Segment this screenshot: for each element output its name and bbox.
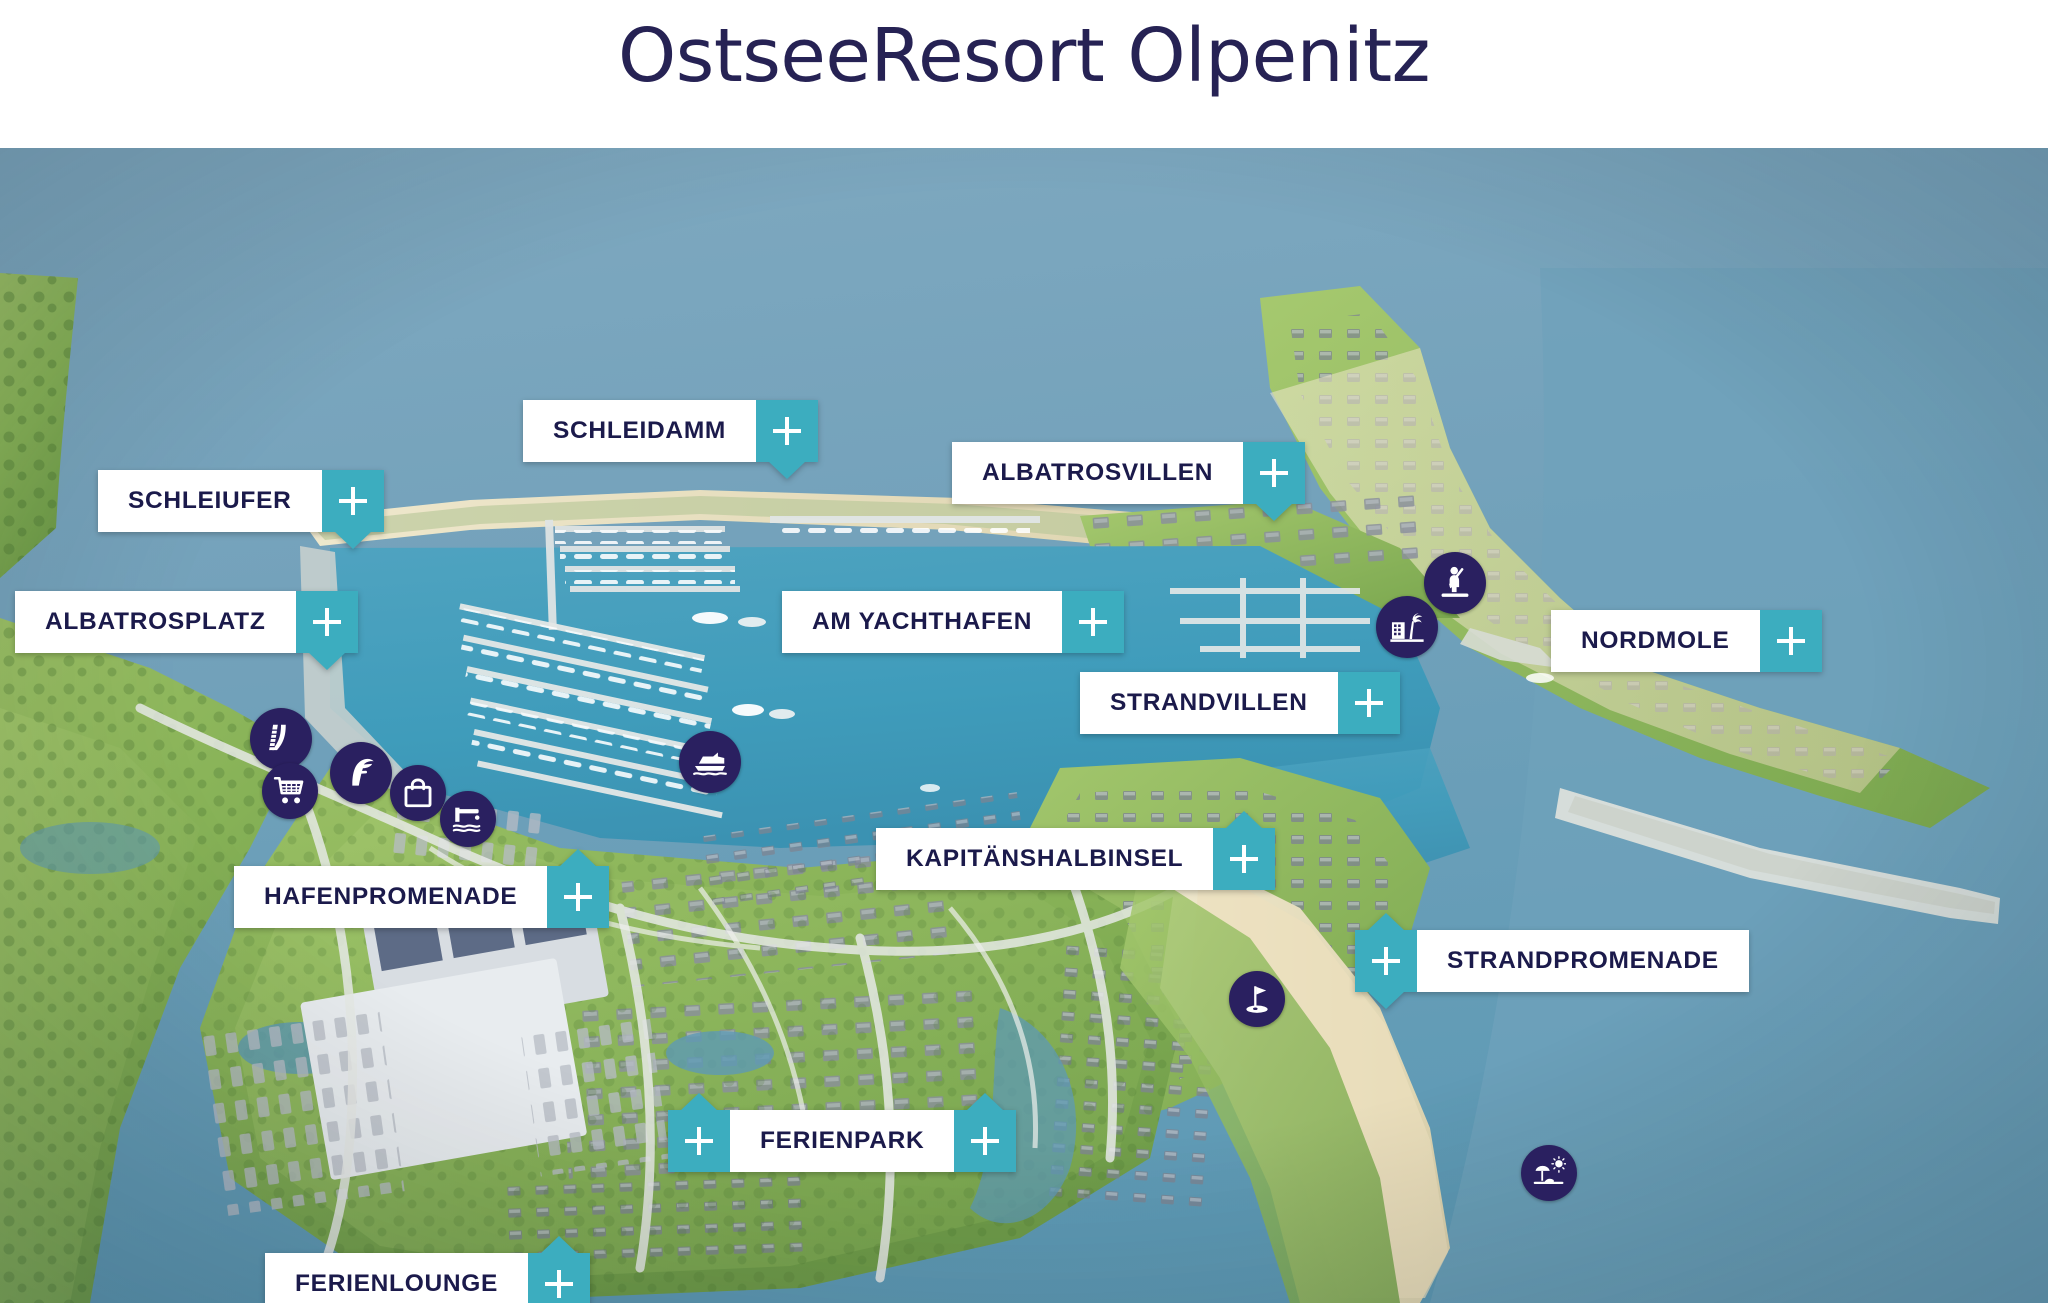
poi-boat-charter[interactable]	[679, 731, 741, 793]
pointer-down-icon	[308, 652, 346, 670]
hotspot-plus-ferienpark-right[interactable]	[954, 1110, 1016, 1172]
hotspot-label-kapitaenshalbinsel: KAPITÄNSHALBINSEL	[876, 828, 1213, 890]
poi-water-slide[interactable]	[250, 708, 312, 770]
hotspot-label-ferienlounge: FERIENLOUNGE	[265, 1253, 528, 1303]
poi-golf[interactable]	[1229, 971, 1285, 1027]
pointer-up-icon	[966, 1093, 1004, 1111]
hotspot-plus-albatrosvillen[interactable]	[1243, 442, 1305, 504]
poi-fitness-brand[interactable]	[330, 742, 392, 804]
hotspot-label-am-yachthafen: AM YACHTHAFEN	[782, 591, 1062, 653]
shopping-bag-icon	[401, 776, 435, 810]
hotspot-plus-schleidamm[interactable]	[756, 400, 818, 462]
hotspot-label-albatrosplatz: ALBATROSPLATZ	[15, 591, 296, 653]
hotspot-am-yachthafen[interactable]: AM YACHTHAFEN	[782, 591, 1124, 653]
pointer-up-icon	[559, 849, 597, 867]
golf-flag-icon	[1240, 982, 1274, 1016]
paddleboard-icon	[1436, 564, 1474, 602]
interactive-resort-map[interactable]: SCHLEIDAMM ALBATROSVILLEN SCHLEIUFER ALB…	[0, 148, 2048, 1303]
pointer-down-icon	[1255, 503, 1293, 521]
pointer-up-icon	[1225, 811, 1263, 829]
beach-umbrella-icon	[1532, 1156, 1566, 1190]
page-title: OstseeResort Olpenitz	[0, 16, 2048, 97]
shopping-cart-icon	[273, 774, 307, 808]
hotspot-albatrosplatz[interactable]: ALBATROSPLATZ	[15, 591, 358, 653]
pointer-down-icon	[334, 531, 372, 549]
hotspot-label-strandvillen: STRANDVILLEN	[1080, 672, 1338, 734]
hotspot-plus-nordmole[interactable]	[1760, 610, 1822, 672]
pointer-down-icon	[1367, 991, 1405, 1009]
hotspot-label-schleidamm: SCHLEIDAMM	[523, 400, 756, 462]
hotspot-plus-strandpromenade[interactable]	[1355, 930, 1417, 992]
hotspot-label-hafenpromenade: HAFENPROMENADE	[234, 866, 547, 928]
diving-board-icon	[451, 802, 485, 836]
hotspot-label-schleiufer: SCHLEIUFER	[98, 470, 322, 532]
hotspot-nordmole[interactable]: NORDMOLE	[1551, 610, 1822, 672]
f-logo-icon	[342, 754, 380, 792]
poi-beach-umbrella[interactable]	[1521, 1145, 1577, 1201]
hotspot-plus-schleiufer[interactable]	[322, 470, 384, 532]
hotspot-label-strandpromenade: STRANDPROMENADE	[1417, 930, 1749, 992]
poi-pool-diving[interactable]	[440, 791, 496, 847]
poi-beach-resort[interactable]	[1376, 596, 1438, 658]
hotspot-strandvillen[interactable]: STRANDVILLEN	[1080, 672, 1400, 734]
pointer-up-icon	[680, 1093, 718, 1111]
pointer-up-icon	[1367, 913, 1405, 931]
hotspot-hafenpromenade[interactable]: HAFENPROMENADE	[234, 866, 609, 928]
hotspot-ferienlounge[interactable]: FERIENLOUNGE	[265, 1253, 590, 1303]
water-slide-icon	[262, 720, 300, 758]
motorboat-icon	[691, 743, 729, 781]
hotspot-schleidamm[interactable]: SCHLEIDAMM	[523, 400, 818, 462]
hotspot-schleiufer[interactable]: SCHLEIUFER	[98, 470, 384, 532]
poi-supermarket[interactable]	[262, 763, 318, 819]
resort-map-page: OstseeResort Olpenitz	[0, 0, 2048, 1303]
hotspot-plus-kapitaenshalbinsel[interactable]	[1213, 828, 1275, 890]
hotspot-albatrosvillen[interactable]: ALBATROSVILLEN	[952, 442, 1305, 504]
poi-sup-paddle[interactable]	[1424, 552, 1486, 614]
hotspot-strandpromenade[interactable]: STRANDPROMENADE	[1355, 930, 1749, 992]
hotspot-label-albatrosvillen: ALBATROSVILLEN	[952, 442, 1243, 504]
hotspot-label-nordmole: NORDMOLE	[1551, 610, 1760, 672]
hotspot-plus-hafenpromenade[interactable]	[547, 866, 609, 928]
hotspot-label-ferienpark: FERIENPARK	[730, 1110, 954, 1172]
hotspot-plus-am-yachthafen[interactable]	[1062, 591, 1124, 653]
hotspot-plus-ferienpark-left[interactable]	[668, 1110, 730, 1172]
hotspot-ferienpark[interactable]: FERIENPARK	[668, 1110, 1016, 1172]
hotspot-plus-strandvillen[interactable]	[1338, 672, 1400, 734]
pointer-up-icon	[540, 1236, 578, 1254]
hotspot-plus-albatrosplatz[interactable]	[296, 591, 358, 653]
palm-beach-icon	[1388, 608, 1426, 646]
hotspot-plus-ferienlounge[interactable]	[528, 1253, 590, 1303]
poi-shopping[interactable]	[390, 765, 446, 821]
pointer-down-icon	[768, 461, 806, 479]
hotspot-kapitaenshalbinsel[interactable]: KAPITÄNSHALBINSEL	[876, 828, 1275, 890]
